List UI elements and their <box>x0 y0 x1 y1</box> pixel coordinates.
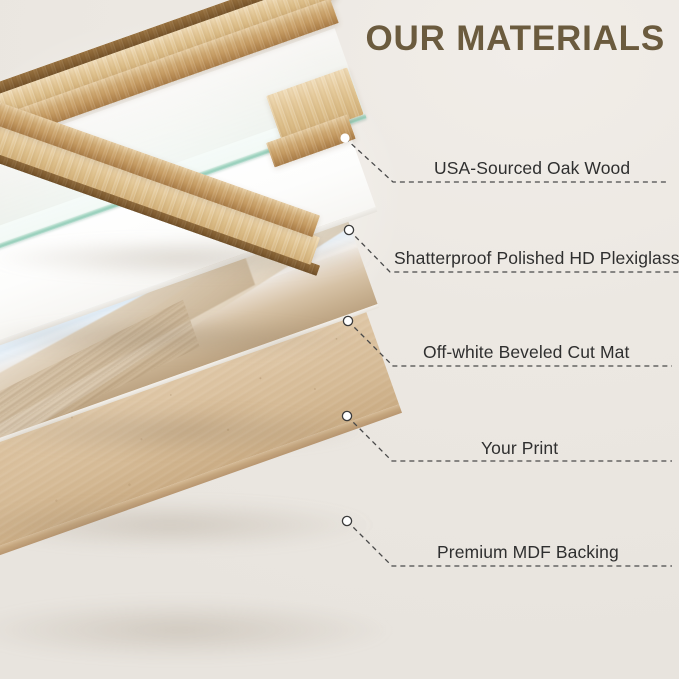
exploded-frame-artwork <box>0 0 420 679</box>
layer-oak-frame <box>0 0 420 300</box>
page-title: OUR MATERIALS <box>366 19 665 59</box>
product-infographic: OUR MATERIALS USA-Sourced Oak Wood Shatt… <box>0 0 679 679</box>
mdf-shadow <box>0 600 390 660</box>
